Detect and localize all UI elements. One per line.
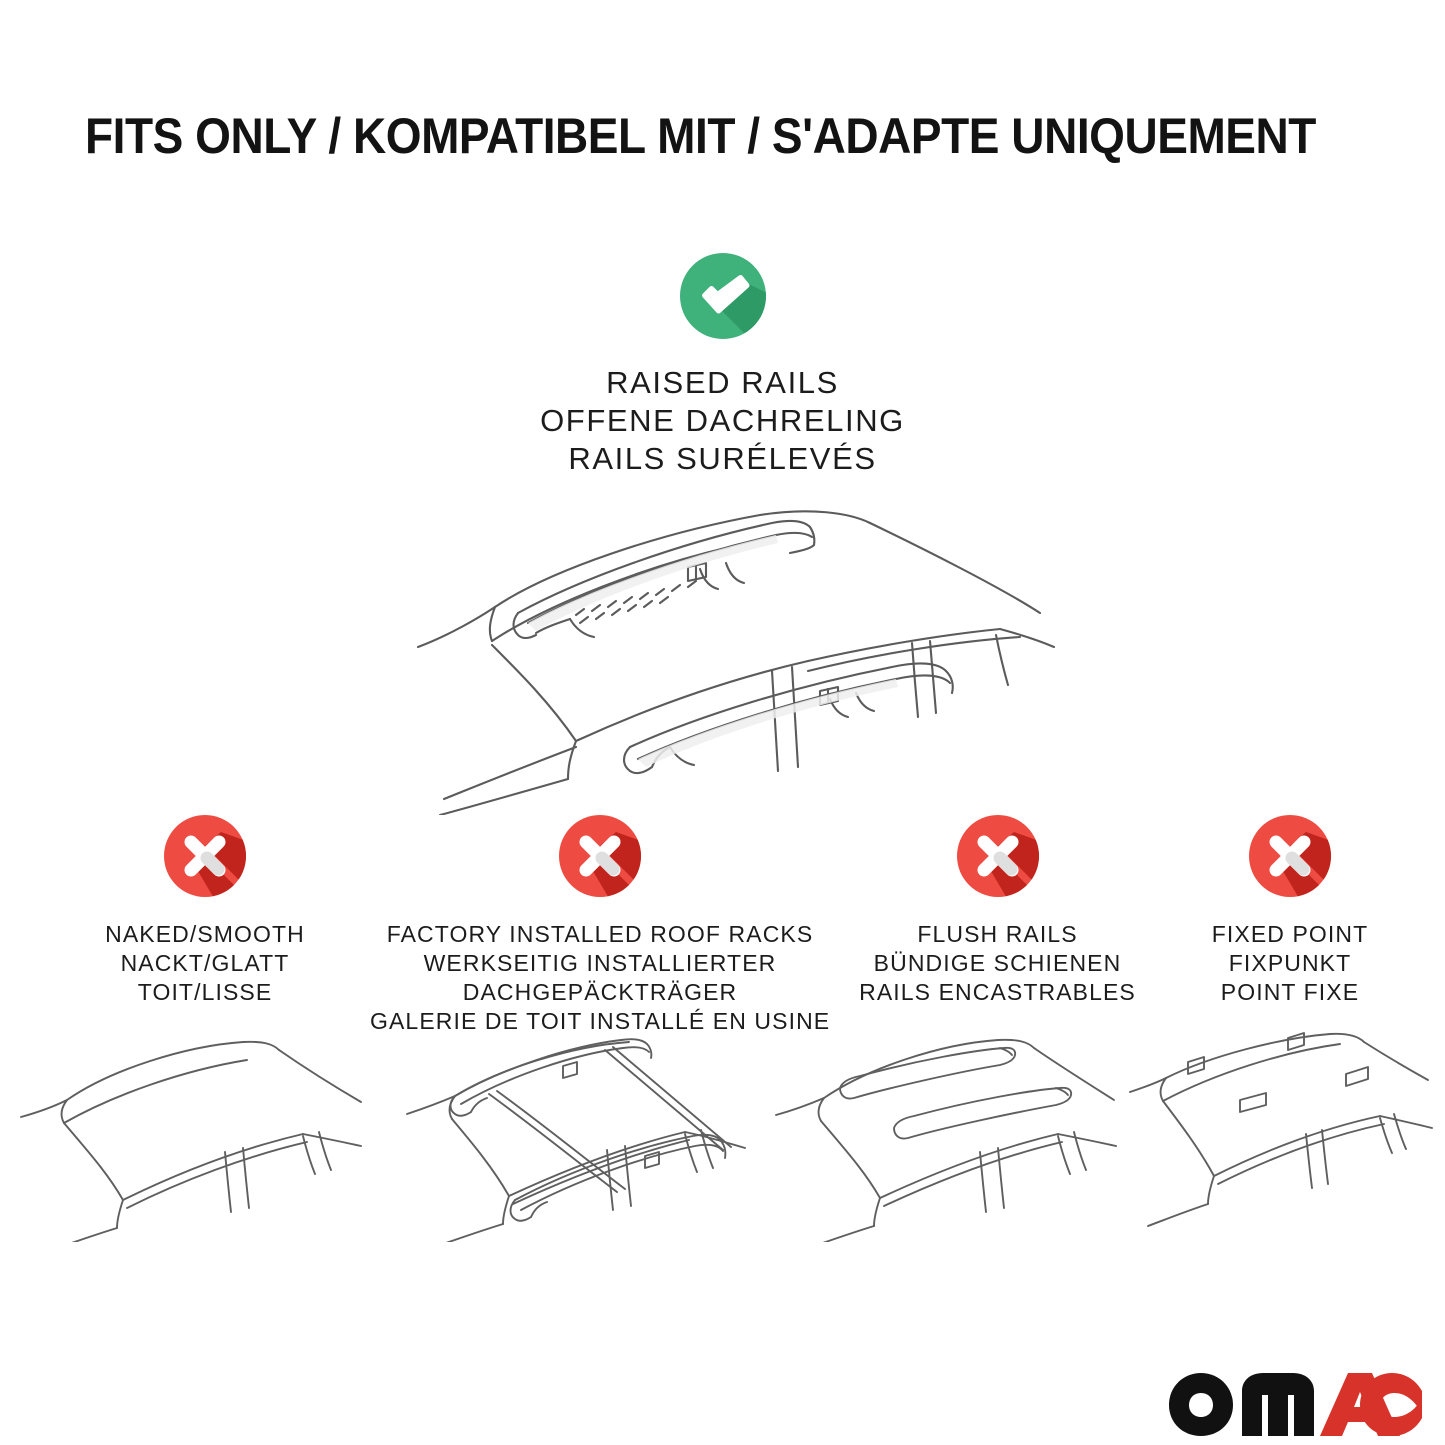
label-en: FLUSH RAILS xyxy=(855,920,1140,949)
label-de-2: DACHGEPÄCKTRÄGER xyxy=(370,978,830,1007)
label-fr: RAILS ENCASTRABLES xyxy=(855,978,1140,1007)
label-de: FIXPUNKT xyxy=(1180,949,1400,978)
incompatible-labels-flush-rails: FLUSH RAILS BÜNDIGE SCHIENEN RAILS ENCAS… xyxy=(855,920,1140,1007)
incompatible-item-flush-rails: FLUSH RAILS BÜNDIGE SCHIENEN RAILS ENCAS… xyxy=(855,812,1140,1007)
car-roof-naked-smooth-sketch xyxy=(15,1022,370,1242)
page-title: FITS ONLY / KOMPATIBEL MIT / S'ADAPTE UN… xyxy=(85,108,1272,164)
car-roof-fixed-point-sketch xyxy=(1128,1022,1443,1242)
compatible-label-en: RAISED RAILS xyxy=(0,364,1445,402)
compatible-section: RAISED RAILS OFFENE DACHRELING RAILS SUR… xyxy=(0,250,1445,478)
label-en: FIXED POINT xyxy=(1180,920,1400,949)
incompatible-labels-factory-racks: FACTORY INSTALLED ROOF RACKS WERKSEITIG … xyxy=(370,920,830,1036)
label-de-1: WERKSEITIG INSTALLIERTER xyxy=(370,949,830,978)
label-en: NAKED/SMOOTH xyxy=(75,920,335,949)
incompatible-labels-naked-smooth: NAKED/SMOOTH NACKT/GLATT TOIT/LISSE xyxy=(75,920,335,1007)
red-x-circle-icon xyxy=(1246,812,1334,900)
red-x-circle-icon xyxy=(954,812,1042,900)
label-de: NACKT/GLATT xyxy=(75,949,335,978)
label-fr: TOIT/LISSE xyxy=(75,978,335,1007)
green-check-circle-icon xyxy=(677,250,769,342)
omac-logo xyxy=(1168,1371,1423,1437)
fitment-infographic: FITS ONLY / KOMPATIBEL MIT / S'ADAPTE UN… xyxy=(0,0,1445,1445)
red-x-circle-icon xyxy=(556,812,644,900)
label-en: FACTORY INSTALLED ROOF RACKS xyxy=(370,920,830,949)
logo-letter-m xyxy=(1242,1373,1314,1436)
incompatible-item-factory-racks: FACTORY INSTALLED ROOF RACKS WERKSEITIG … xyxy=(370,812,830,1036)
logo-letter-o xyxy=(1169,1373,1233,1436)
label-fr: POINT FIXE xyxy=(1180,978,1400,1007)
incompatible-item-fixed-point: FIXED POINT FIXPUNKT POINT FIXE xyxy=(1180,812,1400,1007)
car-roof-raised-rails-sketch xyxy=(400,495,1060,815)
car-roof-factory-racks-sketch xyxy=(393,1022,763,1242)
incompatible-illustrations xyxy=(0,1022,1445,1242)
incompatible-labels-fixed-point: FIXED POINT FIXPUNKT POINT FIXE xyxy=(1180,920,1400,1007)
red-x-circle-icon xyxy=(161,812,249,900)
compatible-label-fr: RAILS SURÉLEVÉS xyxy=(0,440,1445,478)
incompatible-section: NAKED/SMOOTH NACKT/GLATT TOIT/LISSE xyxy=(0,812,1445,1042)
label-de: BÜNDIGE SCHIENEN xyxy=(855,949,1140,978)
compatible-label-de: OFFENE DACHRELING xyxy=(0,402,1445,440)
compatible-labels: RAISED RAILS OFFENE DACHRELING RAILS SUR… xyxy=(0,364,1445,478)
incompatible-item-naked-smooth: NAKED/SMOOTH NACKT/GLATT TOIT/LISSE xyxy=(75,812,335,1007)
car-roof-flush-rails-sketch xyxy=(768,1022,1120,1242)
